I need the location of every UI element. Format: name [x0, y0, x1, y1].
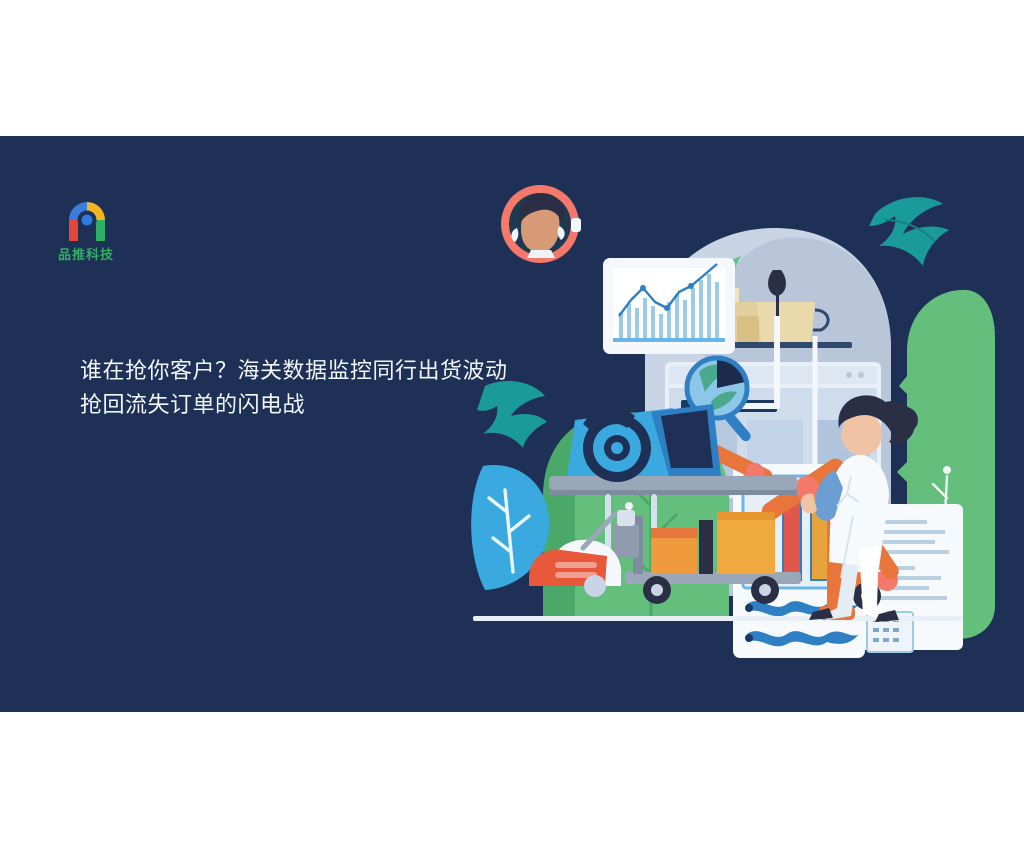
customs-data-analytics-illustration: LINS — [455, 176, 995, 676]
teal-leaf-right — [869, 197, 949, 266]
operator-avatar-badge — [501, 185, 581, 263]
brand-caption: 品推科技 — [58, 244, 178, 263]
pintui-logo-icon — [65, 198, 109, 242]
blue-machine — [567, 404, 721, 482]
teal-leaf-left — [477, 381, 547, 448]
brand-logo-block[interactable]: 品推科技 — [58, 198, 178, 263]
slide-canvas: 品推科技 谁在抢你客户？海关数据监控同行出货波动 抢回流失订单的闪电战 — [0, 0, 1024, 853]
hero-banner: 品推科技 谁在抢你客户？海关数据监控同行出货波动 抢回流失订单的闪电战 — [0, 136, 1024, 712]
line-bar-chart-panel — [603, 258, 735, 354]
